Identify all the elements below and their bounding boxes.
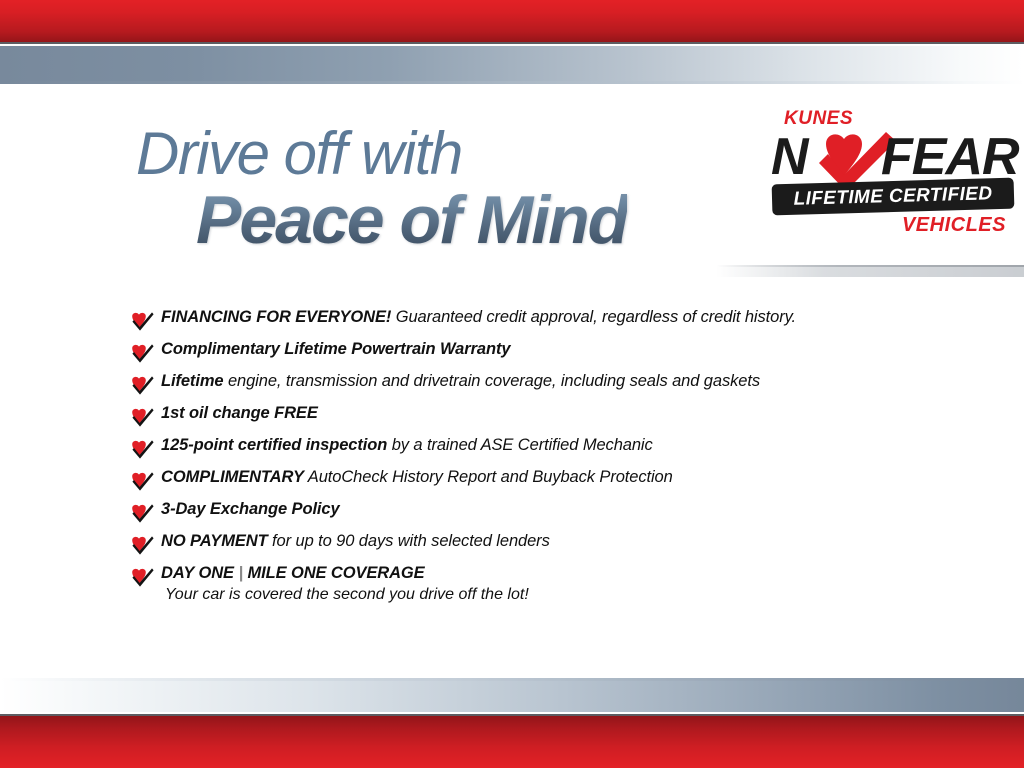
top-red-band [0, 0, 1024, 44]
benefit-text: 1st oil change FREE [161, 404, 950, 423]
benefit-text: DAY ONE | MILE ONE COVERAGE [161, 564, 950, 583]
benefit-body: DAY ONE | MILE ONE COVERAGEYour car is c… [161, 564, 950, 605]
benefit-detail: AutoCheck History Report and Buyback Pro… [304, 468, 673, 486]
logo-letter-n: N [771, 126, 808, 188]
benefit-body: 125-point certified inspection by a trai… [161, 436, 950, 455]
benefit-detail: engine, transmission and drivetrain cove… [223, 372, 760, 390]
check-heart-icon [130, 439, 154, 459]
bottom-gray-band [0, 678, 1024, 712]
benefit-text: Lifetime engine, transmission and drivet… [161, 372, 950, 391]
check-heart-icon [130, 503, 154, 523]
benefit-item: 125-point certified inspection by a trai… [130, 436, 950, 459]
benefit-text: NO PAYMENT for up to 90 days with select… [161, 532, 950, 551]
benefit-emphasis-secondary: MILE ONE COVERAGE [247, 564, 424, 582]
benefit-body: COMPLIMENTARY AutoCheck History Report a… [161, 468, 950, 487]
check-heart-icon [130, 535, 154, 555]
logo-certified-text: LIFETIME CERTIFIED [772, 178, 1015, 216]
benefit-body: 3-Day Exchange Policy [161, 500, 950, 519]
benefit-item: NO PAYMENT for up to 90 days with select… [130, 532, 950, 555]
headline-block: Drive off with Peace of Mind [136, 124, 627, 254]
benefit-separator: | [234, 564, 248, 582]
benefit-detail: for up to 90 days with selected lenders [268, 532, 550, 550]
benefit-text: FINANCING FOR EVERYONE! Guaranteed credi… [161, 308, 950, 327]
check-heart-icon [130, 407, 154, 427]
header-divider [716, 265, 1024, 277]
benefit-body: 1st oil change FREE [161, 404, 950, 423]
benefit-emphasis: 1st oil change FREE [161, 404, 318, 422]
benefit-detail: Guaranteed credit approval, regardless o… [391, 308, 796, 326]
benefit-emphasis: COMPLIMENTARY [161, 468, 304, 486]
check-heart-icon [130, 343, 154, 363]
check-heart-icon [130, 471, 154, 491]
top-gray-band [0, 46, 1024, 84]
benefit-item: Lifetime engine, transmission and drivet… [130, 372, 950, 395]
benefit-emphasis: Complimentary Lifetime Powertrain Warran… [161, 340, 510, 358]
benefit-body: Lifetime engine, transmission and drivet… [161, 372, 950, 391]
benefit-text: 125-point certified inspection by a trai… [161, 436, 950, 455]
check-heart-icon [130, 375, 154, 395]
benefit-body: FINANCING FOR EVERYONE! Guaranteed credi… [161, 308, 950, 327]
benefit-item: COMPLIMENTARY AutoCheck History Report a… [130, 468, 950, 491]
benefit-item: 3-Day Exchange Policy [130, 500, 950, 523]
bottom-red-band [0, 714, 1024, 768]
benefit-item: 1st oil change FREE [130, 404, 950, 427]
benefit-subtext: Your car is covered the second you drive… [165, 585, 950, 605]
benefits-list: FINANCING FOR EVERYONE! Guaranteed credi… [130, 308, 950, 614]
benefit-item: FINANCING FOR EVERYONE! Guaranteed credi… [130, 308, 950, 331]
benefit-item: Complimentary Lifetime Powertrain Warran… [130, 340, 950, 363]
benefit-emphasis: 125-point certified inspection [161, 436, 387, 454]
check-heart-icon [130, 567, 154, 587]
check-heart-icon [130, 311, 154, 331]
benefit-emphasis: FINANCING FOR EVERYONE! [161, 308, 391, 326]
headline-line-2: Peace of Mind [196, 186, 627, 254]
benefit-emphasis: NO PAYMENT [161, 532, 268, 550]
logo-vehicles-text: VEHICLES [902, 214, 1006, 237]
benefit-detail: by a trained ASE Certified Mechanic [387, 436, 652, 454]
promo-flyer: Drive off with Peace of Mind KUNES N FEA… [0, 0, 1024, 768]
benefit-body: NO PAYMENT for up to 90 days with select… [161, 532, 950, 551]
benefit-emphasis: 3-Day Exchange Policy [161, 500, 340, 518]
benefit-emphasis: Lifetime [161, 372, 223, 390]
headline-line-1: Drive off with [136, 124, 627, 184]
logo-certified-bar: LIFETIME CERTIFIED [772, 178, 1015, 216]
kunes-no-fear-logo: KUNES N FEAR LIFETIME CERTIFIED VEHICLES [766, 108, 1014, 246]
benefit-body: Complimentary Lifetime Powertrain Warran… [161, 340, 950, 359]
benefit-text: COMPLIMENTARY AutoCheck History Report a… [161, 468, 950, 487]
benefit-emphasis: DAY ONE [161, 564, 234, 582]
benefit-item: DAY ONE | MILE ONE COVERAGEYour car is c… [130, 564, 950, 605]
benefit-text: 3-Day Exchange Policy [161, 500, 950, 519]
benefit-text: Complimentary Lifetime Powertrain Warran… [161, 340, 950, 359]
